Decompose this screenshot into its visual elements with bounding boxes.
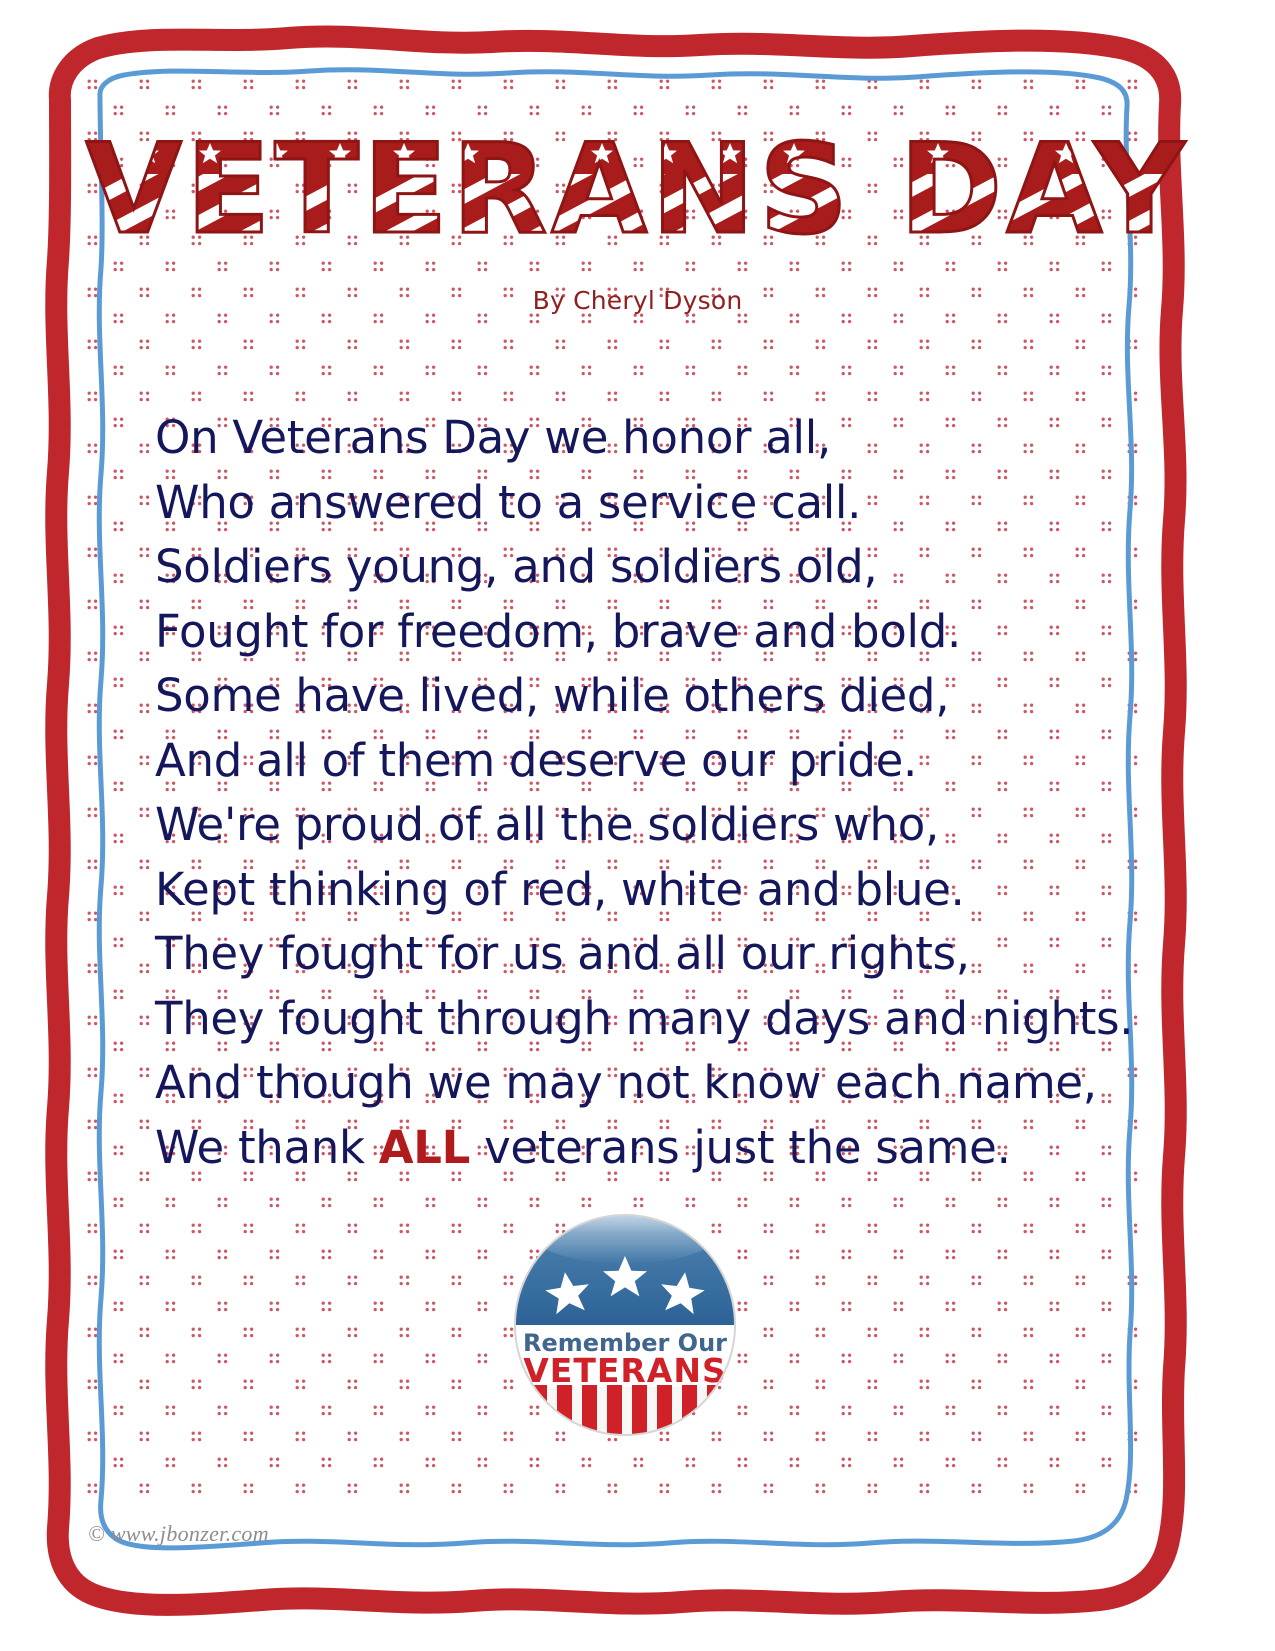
poem-line: And all of them deserve our pride. [155,729,1155,794]
poem-line: They fought through many days and nights… [155,987,1155,1052]
poem-line: Kept thinking of red, white and blue. [155,858,1155,923]
poem-line: Fought for freedom, brave and bold. [155,600,1155,665]
poem-line: They fought for us and all our rights, [155,922,1155,987]
poem-line: Some have lived, while others died, [155,664,1155,729]
poem-text-post: veterans just the same. [470,1121,1011,1174]
veterans-day-title-art: VETERANS DAY [0,128,1275,260]
poster-content: VETERANS DAY [0,0,1275,1651]
poem-emphasis-all: ALL [379,1121,470,1174]
poem-text-pre: We thank [155,1121,379,1174]
byline: By Cheryl Dyson [0,286,1275,315]
poem-line: Soldiers young, and soldiers old, [155,535,1155,600]
poem-line: Who answered to a service call. [155,471,1155,536]
page-title: VETERANS DAY [0,128,1275,260]
poem-line: We're proud of all the soldiers who, [155,793,1155,858]
copyright-notice: © www.jbonzer.com [88,1521,269,1547]
poem-line-final: We thank ALL veterans just the same. [155,1116,1155,1181]
poem-line: On Veterans Day we honor all, [155,406,1155,471]
badge-line-2: VETERANS [523,1351,726,1390]
poem-body: On Veterans Day we honor all, Who answer… [155,406,1155,1180]
svg-text:VETERANS DAY: VETERANS DAY [86,128,1188,260]
veterans-day-poster: VETERANS DAY [0,0,1275,1651]
remember-our-veterans-badge: Remember Our VETERANS [512,1212,738,1438]
poem-line: And though we may not know each name, [155,1051,1155,1116]
